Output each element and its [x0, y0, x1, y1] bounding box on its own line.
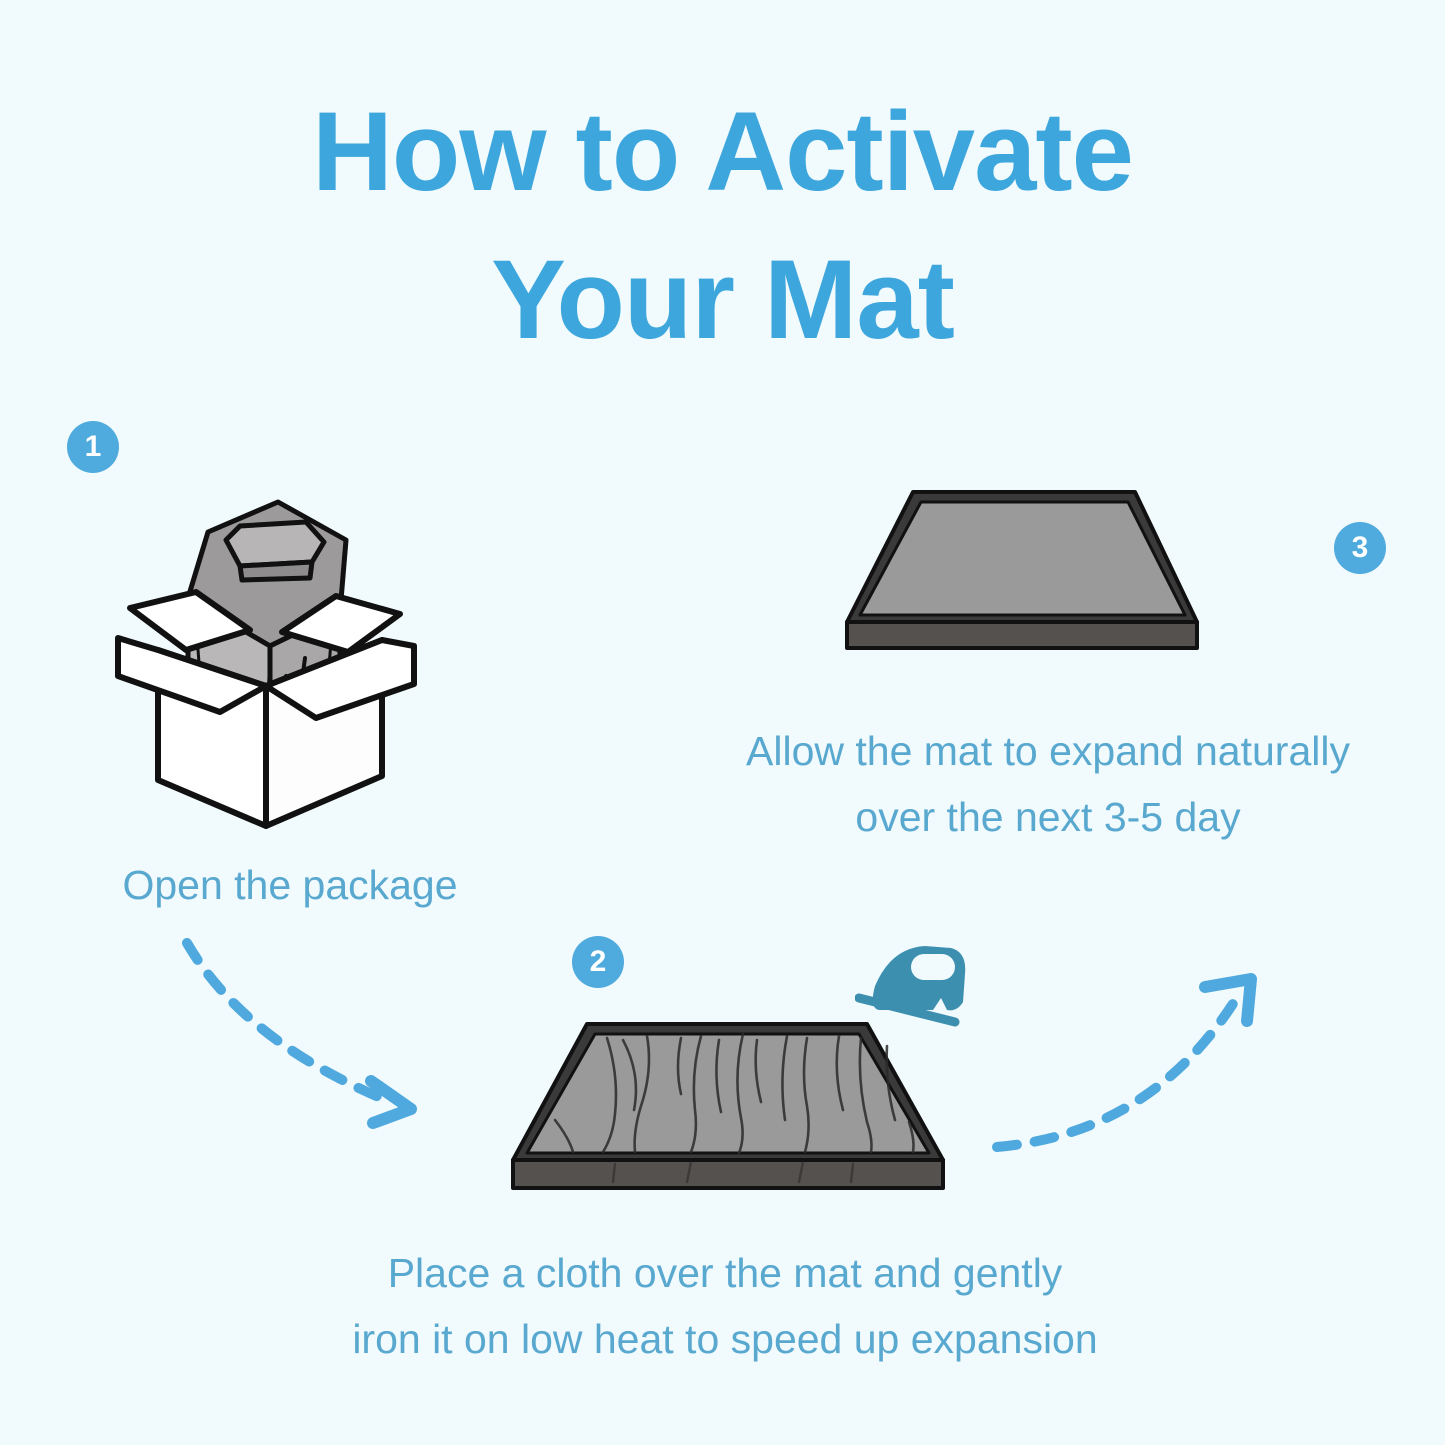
step-badge-2-number: 2: [590, 947, 607, 977]
step-badge-1: 1: [67, 421, 119, 473]
step-3-caption-line-2: over the next 3-5 day: [668, 784, 1428, 850]
step-1-caption: Open the package: [40, 852, 540, 918]
page-title: How to Activate Your Mat: [0, 78, 1445, 374]
dashed-curved-arrow-down-right-icon: [175, 925, 475, 1140]
cloth-over-mat-icon: [495, 1010, 965, 1200]
iron-icon: [855, 940, 980, 1035]
step-badge-3-number: 3: [1352, 533, 1369, 563]
infographic-root: How to Activate Your Mat 1: [0, 0, 1445, 1445]
step-3-caption-line-1: Allow the mat to expand naturally: [668, 718, 1428, 784]
step-2-caption-line-2: iron it on low heat to speed up expansio…: [250, 1306, 1200, 1372]
title-line-1: How to Activate: [0, 78, 1445, 226]
step-2-caption-line-1: Place a cloth over the mat and gently: [250, 1240, 1200, 1306]
step-badge-2: 2: [572, 936, 624, 988]
title-line-2: Your Mat: [0, 226, 1445, 374]
step-3-caption: Allow the mat to expand naturally over t…: [668, 718, 1428, 851]
flat-mat-icon: [835, 470, 1275, 670]
step-2-caption: Place a cloth over the mat and gently ir…: [250, 1240, 1200, 1373]
step-badge-1-number: 1: [85, 432, 102, 462]
dashed-curved-arrow-up-right-icon: [985, 965, 1280, 1175]
step-badge-3: 3: [1334, 522, 1386, 574]
open-box-icon: [100, 480, 440, 840]
